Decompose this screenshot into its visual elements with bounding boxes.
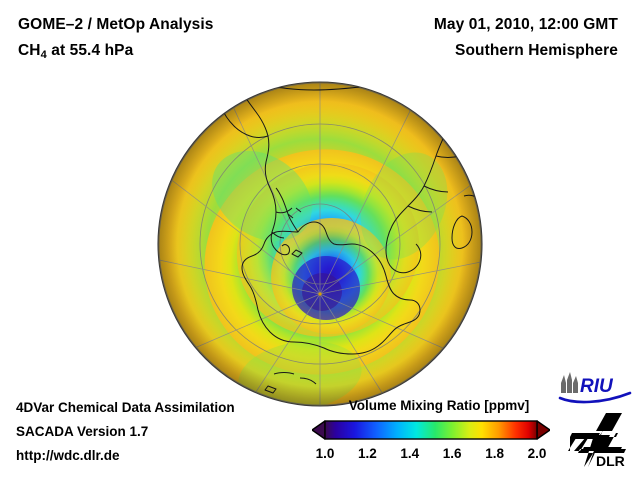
dlr-wordmark: DLR (596, 453, 625, 469)
riu-logo-svg: RIU (558, 371, 632, 405)
colorbar-high-arrow (537, 421, 550, 439)
colorbar-low-arrow (312, 421, 325, 439)
colorbar-tick-1.2: 1.2 (358, 446, 377, 461)
credit-line-2: SACADA Version 1.7 (16, 424, 148, 439)
south-pole-marker (318, 292, 321, 295)
riu-logo: RIU (558, 371, 632, 405)
colorbar-tick-1.6: 1.6 (443, 446, 462, 461)
riu-wordmark: RIU (580, 376, 614, 397)
colorbar-gradient (325, 421, 537, 439)
colorbar (312, 418, 550, 442)
limb-shading (158, 82, 482, 406)
dlr-logo-svg: DLR (566, 411, 632, 469)
dlr-logo: DLR (566, 411, 632, 469)
credit-line-3: http://wdc.dlr.de (16, 448, 120, 463)
colorbar-tick-labels: 1.01.21.41.61.82.0 (312, 446, 550, 466)
colorbar-title: Volume Mixing Ratio [ppmv] (334, 398, 544, 413)
colorbar-tick-1.4: 1.4 (400, 446, 419, 461)
colorbar-svg (312, 418, 550, 442)
colorbar-tick-1.0: 1.0 (316, 446, 335, 461)
riu-crown-bars (561, 372, 578, 393)
colorbar-tick-2.0: 2.0 (528, 446, 547, 461)
colorbar-tick-1.8: 1.8 (485, 446, 504, 461)
plot-page: GOME–2 / MetOp Analysis CH4 at 55.4 hPa … (0, 0, 640, 480)
credit-line-1: 4DVar Chemical Data Assimilation (16, 400, 235, 415)
